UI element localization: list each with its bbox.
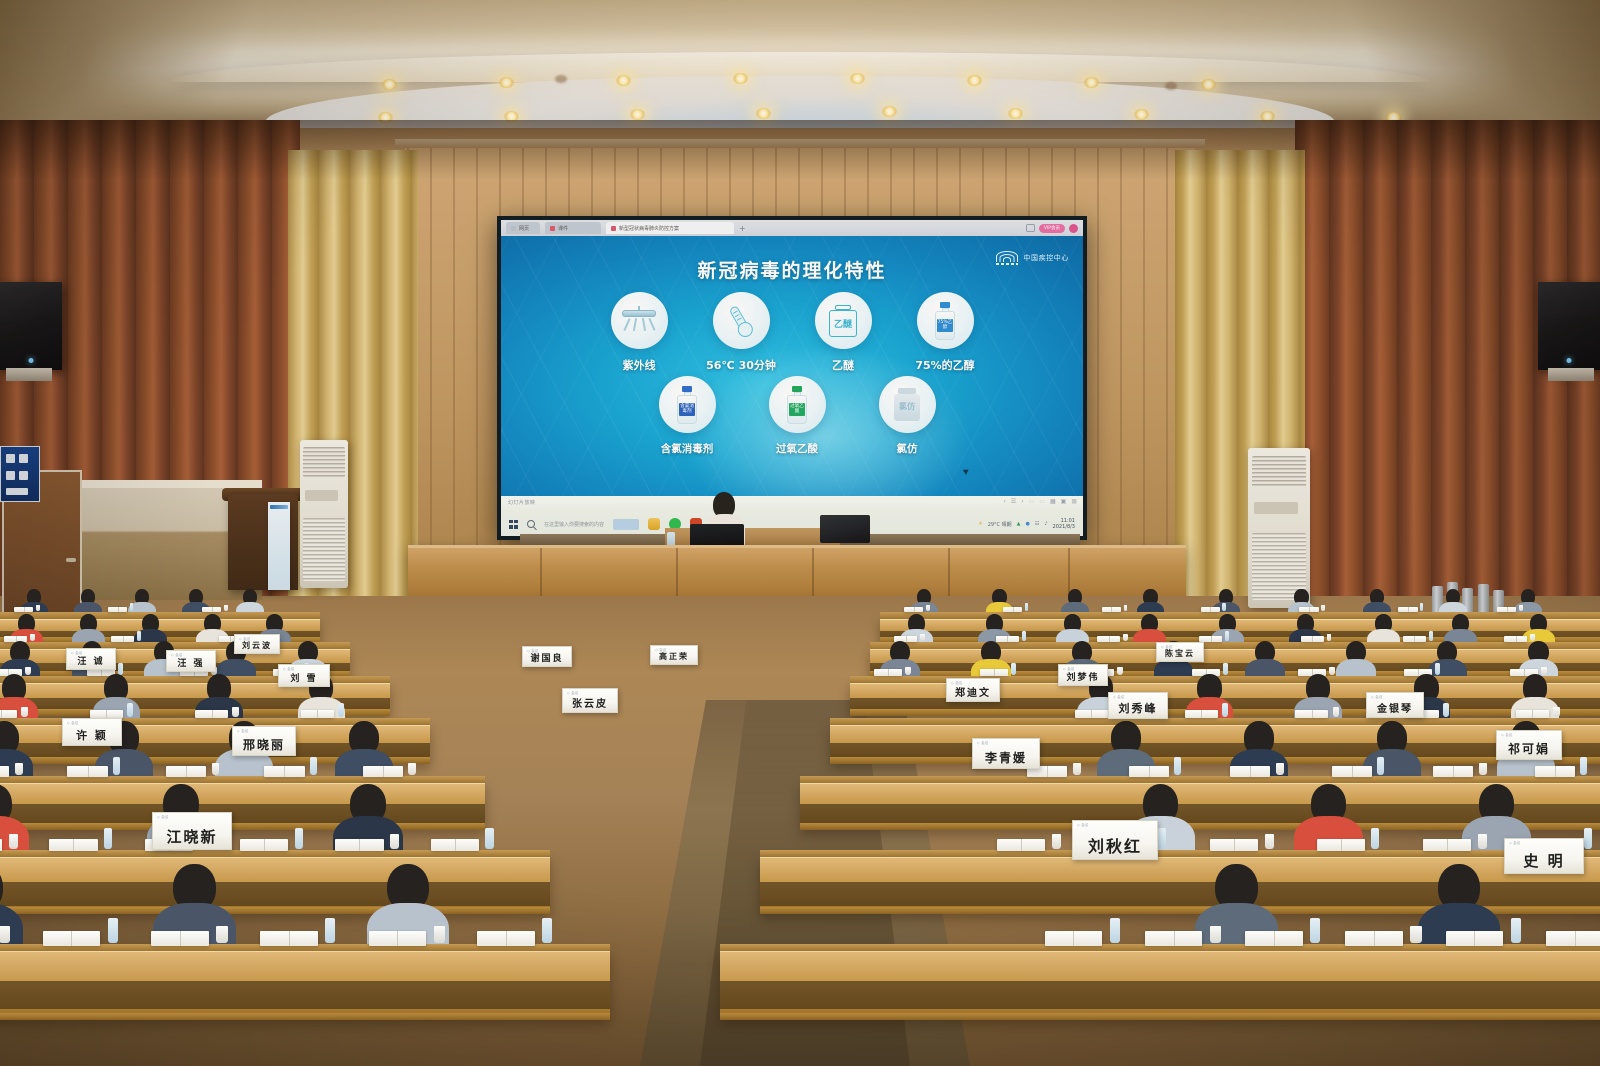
wall-slat — [476, 142, 478, 582]
placard-logo: ◇ 会议 — [977, 741, 989, 746]
desk-edge — [0, 1013, 610, 1020]
placard-logo: ◇ 会议 — [1077, 823, 1089, 828]
paper-cup — [1333, 707, 1339, 717]
name-placard: ◇ 会议陈宝云 — [1156, 642, 1204, 662]
desk-shelf — [0, 804, 485, 823]
ceiling-smoke-detector — [1165, 82, 1177, 90]
cdc-emblem-icon — [995, 250, 1019, 265]
slide-item-label: 75%的乙醇 — [915, 357, 974, 373]
name-placard: ◇ 会议谢国良 — [522, 646, 572, 667]
desk-shelf — [720, 981, 1600, 1009]
slide-item-chloroform: 氯仿 氯仿 — [868, 376, 946, 456]
open-notebook — [43, 931, 101, 946]
open-notebook — [1245, 931, 1303, 946]
paper-cup — [1479, 763, 1487, 775]
paper-cup — [1210, 926, 1221, 944]
open-notebook — [67, 766, 107, 777]
projection-screen: 网页 课件 新型冠状病毒肺炎防控方案 + VIP会员 — [497, 216, 1087, 540]
slide-item-peracetic: 过氧乙酸 过氧乙酸 — [758, 376, 836, 456]
slide-item-chlorine: 含氯消毒剂 含氯消毒剂 — [648, 376, 726, 456]
paper-cup — [920, 634, 925, 641]
placard-name: 金银琴 — [1377, 700, 1413, 715]
water-bottle — [1110, 918, 1120, 943]
water-bottle — [310, 757, 317, 775]
placard-name: 刘 雪 — [290, 671, 317, 684]
placard-name: 张云皮 — [572, 695, 608, 710]
placard-logo: ◇ 会议 — [1063, 667, 1075, 672]
paper-cup — [224, 605, 228, 611]
water-bottle — [108, 918, 118, 943]
slide-item-label: 过氧乙酸 — [776, 441, 818, 456]
open-notebook — [1201, 607, 1220, 612]
browser-tab[interactable]: 网页 — [506, 222, 540, 234]
browser-menu-icon[interactable] — [1026, 224, 1035, 232]
avatar[interactable] — [1069, 224, 1078, 233]
right-wall-speaker — [1538, 282, 1600, 370]
open-notebook — [1317, 839, 1365, 852]
water-bottle — [1310, 918, 1320, 943]
desk-row — [720, 950, 1600, 1020]
open-notebook — [0, 766, 9, 777]
file-explorer-icon[interactable] — [648, 518, 660, 530]
right-speaker-bracket — [1548, 368, 1594, 381]
desk-edge — [0, 823, 485, 830]
speaker-led-icon — [29, 358, 34, 363]
open-notebook — [14, 607, 33, 612]
open-notebook — [1301, 636, 1324, 642]
curtain-top-shadow — [0, 120, 1600, 180]
paper-cup — [216, 926, 227, 944]
placard-logo: ◇ 会议 — [1161, 645, 1173, 650]
paper-cup — [1553, 707, 1559, 717]
ceiling-downlight — [756, 108, 771, 119]
name-placard: ◇ 会议李青媛 — [972, 738, 1040, 769]
water-bottle — [1429, 631, 1433, 641]
name-placard: ◇ 会议郑迪文 — [946, 678, 1000, 702]
paper-cup — [434, 926, 445, 944]
paper-cup — [0, 926, 10, 944]
paper-cup — [9, 834, 18, 849]
desk-surface — [0, 850, 550, 857]
name-placard: ◇ 会议张云皮 — [562, 688, 618, 713]
taskbar-search-placeholder[interactable]: 在这里输入你要搜索的内容 — [544, 521, 604, 528]
placard-name: 祁可娟 — [1508, 740, 1550, 757]
water-bottle — [1222, 703, 1228, 717]
browser-tab-label: 课件 — [558, 225, 568, 232]
jar-label-text: 乙醚 — [828, 317, 858, 330]
placard-logo: ◇ 会议 — [655, 648, 667, 653]
can-label-text: 氯仿 — [892, 401, 922, 412]
name-placard: ◇ 会议高正荣 — [650, 645, 698, 665]
uv-lamp-icon — [611, 292, 668, 349]
desk-edge — [720, 1013, 1600, 1020]
open-notebook — [1145, 931, 1203, 946]
door-handle[interactable] — [66, 558, 76, 562]
peracetic-bottle-icon: 过氧乙酸 — [769, 376, 826, 433]
water-bottle — [485, 828, 493, 849]
water-bottle — [1435, 663, 1440, 675]
clock-time: 11:01 — [1061, 518, 1075, 524]
open-notebook — [0, 710, 17, 719]
ceiling-downlight — [1201, 79, 1216, 90]
open-notebook — [264, 766, 304, 777]
open-notebook — [1003, 607, 1022, 612]
slide-item-label: 紫外线 — [623, 357, 656, 373]
open-notebook — [874, 669, 902, 676]
ceiling-downlight — [882, 106, 897, 117]
open-notebook — [335, 839, 383, 852]
desk-surface — [800, 776, 1600, 783]
open-notebook — [1299, 607, 1318, 612]
stage-monitor — [820, 515, 870, 543]
desk-surface — [760, 850, 1600, 857]
placard-logo: ◇ 会议 — [1113, 695, 1125, 700]
water-bottle — [1584, 828, 1592, 849]
slide-icon-row-2: 含氯消毒剂 含氯消毒剂 过氧乙酸 过氧乙酸 — [501, 376, 1083, 456]
placard-logo: ◇ 会议 — [1509, 841, 1521, 846]
paper-cup — [408, 763, 416, 775]
slide-item-uv: 紫外线 — [600, 292, 678, 373]
cdc-logo: 中国疾控中心 — [995, 250, 1069, 265]
name-placard: ◇ 会议邢晓丽 — [232, 726, 296, 756]
placard-logo: ◇ 会议 — [567, 691, 579, 696]
left-speaker-bracket — [6, 368, 52, 381]
water-bottle — [1371, 828, 1379, 849]
ethanol-bottle-icon: 75%乙醇 — [917, 292, 974, 349]
wall-slat — [1120, 142, 1122, 582]
open-notebook — [151, 931, 209, 946]
water-bottle — [1580, 757, 1587, 775]
ceiling-downlight — [382, 79, 397, 90]
projected-desktop: 网页 课件 新型冠状病毒肺炎防控方案 + VIP会员 — [501, 220, 1083, 536]
water-bottle — [1174, 757, 1181, 775]
placard-logo: ◇ 会议 — [71, 651, 83, 656]
open-notebook — [1546, 931, 1600, 946]
desk-shelf — [0, 882, 550, 905]
open-notebook — [108, 607, 127, 612]
paper-cup — [390, 834, 399, 849]
water-bottle — [1223, 663, 1228, 675]
tab-favicon-icon — [550, 226, 555, 231]
placard-logo: ◇ 会议 — [283, 667, 295, 672]
placard-logo: ◇ 会议 — [1501, 733, 1513, 738]
water-bottle — [1511, 918, 1521, 943]
open-notebook — [301, 710, 334, 719]
water-bottle — [1222, 603, 1225, 611]
open-notebook — [997, 839, 1045, 852]
cdc-logo-text: 中国疾控中心 — [1023, 253, 1069, 263]
name-placard: ◇ 会议刘云波 — [234, 634, 280, 654]
weather-readout[interactable]: 29°C 晴朗 — [988, 521, 1012, 528]
paper-cup — [1410, 926, 1421, 944]
open-notebook — [431, 839, 479, 852]
slide-item-label: 乙醚 — [832, 357, 854, 373]
placard-name: 邢晓丽 — [243, 736, 285, 753]
placard-logo: ◇ 会议 — [239, 637, 251, 642]
water-bottle — [1225, 631, 1229, 641]
open-notebook — [1497, 607, 1516, 612]
open-notebook — [1332, 766, 1372, 777]
slide-item-temperature: 56℃ 30分钟 — [702, 292, 780, 373]
open-notebook — [202, 607, 221, 612]
water-bottle — [1022, 631, 1026, 641]
name-placard: ◇ 会议刘 雪 — [278, 664, 330, 687]
water-bottle — [325, 918, 335, 943]
paper-cup — [21, 707, 27, 717]
open-notebook — [980, 669, 1008, 676]
open-notebook — [1210, 839, 1258, 852]
paper-cup — [15, 763, 23, 775]
placard-name: 江晓新 — [166, 826, 217, 847]
placard-logo: ◇ 会议 — [67, 721, 79, 726]
slide-item-label: 56℃ 30分钟 — [706, 357, 776, 373]
new-tab-button[interactable]: + — [739, 224, 746, 233]
chloroform-can-icon: 氯仿 — [879, 376, 936, 433]
placard-logo: ◇ 会议 — [237, 729, 249, 734]
water-bottle — [130, 603, 133, 611]
paper-cup — [926, 605, 930, 611]
taskbar-clock[interactable]: 11:01 2021/8/3 — [1053, 518, 1075, 531]
app-status-ribbon: 幻灯片放映 ‹☰› ▭▭ ▦▣■ — [501, 496, 1083, 511]
desk-shelf — [0, 981, 610, 1009]
open-notebook — [260, 931, 318, 946]
ceiling-smoke-detector — [555, 75, 567, 83]
speaker-led-icon — [1567, 358, 1572, 363]
open-notebook — [1185, 710, 1218, 719]
open-notebook — [49, 839, 97, 852]
open-notebook — [904, 607, 923, 612]
water-bottle — [104, 828, 112, 849]
open-notebook — [1398, 607, 1417, 612]
paper-cup — [1123, 634, 1128, 641]
water-bottle — [295, 828, 303, 849]
open-notebook — [1516, 710, 1549, 719]
left-floor-ac — [300, 440, 348, 588]
placard-name: 李青媛 — [985, 749, 1027, 766]
slideshow-hint: 幻灯片放映 — [508, 499, 536, 506]
system-tray[interactable]: ☀ 29°C 晴朗 ▲ ● ☷♪ 11:01 2021/8/3 — [978, 518, 1075, 531]
desk-row — [0, 856, 550, 914]
paper-cup — [232, 707, 238, 717]
open-notebook — [1535, 766, 1575, 777]
wall-slat — [1097, 142, 1099, 582]
paper-cup — [212, 763, 220, 775]
water-bottle — [1158, 828, 1166, 849]
browser-tab-label: 新型冠状病毒肺炎防控方案 — [619, 225, 679, 232]
slide-item-label: 含氯消毒剂 — [661, 441, 714, 456]
paper-cup — [1327, 634, 1332, 641]
water-bottle — [338, 703, 344, 717]
open-notebook — [0, 839, 2, 852]
desk-edge — [0, 907, 550, 914]
name-placard: ◇ 会议刘秋红 — [1072, 820, 1158, 860]
open-notebook — [166, 766, 206, 777]
browser-tab-active[interactable]: 新型冠状病毒肺炎防控方案 — [606, 222, 734, 234]
ceiling-downlight — [733, 73, 748, 84]
tab-favicon-icon — [511, 226, 516, 231]
wall-slat — [1143, 142, 1145, 582]
ceiling-downlight — [616, 75, 631, 86]
name-placard: ◇ 会议刘秀峰 — [1108, 692, 1168, 719]
placard-logo: ◇ 会议 — [157, 815, 169, 820]
wall-slat — [430, 142, 432, 582]
paper-cup — [1265, 834, 1274, 849]
name-placard: ◇ 会议江晓新 — [152, 812, 232, 850]
name-placard: ◇ 会议许 颖 — [62, 718, 122, 746]
open-notebook — [1423, 839, 1471, 852]
open-notebook — [1345, 931, 1403, 946]
open-notebook — [1403, 636, 1426, 642]
browser-tab[interactable]: 课件 — [545, 222, 601, 234]
open-notebook — [111, 636, 134, 642]
open-notebook — [1045, 931, 1103, 946]
placard-name: 刘秋红 — [1088, 833, 1142, 857]
open-notebook — [477, 931, 535, 946]
desk-row — [830, 724, 1600, 764]
water-bottle — [1377, 757, 1384, 775]
open-notebook — [1230, 766, 1270, 777]
open-notebook — [369, 931, 427, 946]
name-placard: ◇ 会议汪 诚 — [66, 648, 116, 670]
paper-cup — [1073, 763, 1081, 775]
wall-slat — [453, 142, 455, 582]
name-placard: ◇ 会议祁可娟 — [1496, 730, 1562, 760]
water-bottle — [1011, 663, 1016, 675]
water-bottle — [542, 918, 552, 943]
wall-slat — [1166, 142, 1168, 582]
open-notebook — [240, 839, 288, 852]
slide-item-ether: 乙醚 乙醚 — [804, 292, 882, 373]
left-wall-speaker — [0, 282, 62, 370]
water-bottle — [118, 663, 123, 675]
placard-logo: ◇ 会议 — [951, 681, 963, 686]
exit-sign — [0, 446, 40, 502]
tab-favicon-icon — [611, 226, 616, 231]
browser-toolbar-right: VIP会员 — [1026, 224, 1078, 233]
ceiling-downlight — [1084, 77, 1099, 88]
placard-name: 郑迪文 — [955, 684, 991, 699]
water-bottle — [127, 703, 133, 717]
paper-cup — [905, 667, 910, 675]
paper-cup — [36, 605, 40, 611]
open-notebook — [1433, 766, 1473, 777]
open-notebook — [1129, 766, 1169, 777]
clock-date: 2021/8/3 — [1053, 524, 1075, 530]
water-bottle — [1025, 603, 1028, 611]
placard-name: 史 明 — [1523, 850, 1564, 871]
paper-cup — [1276, 763, 1284, 775]
open-notebook — [1075, 710, 1108, 719]
browser-tab-label: 网页 — [519, 225, 529, 232]
windows-start-icon[interactable] — [509, 520, 518, 529]
desk-row — [0, 782, 485, 830]
paper-cup — [1052, 834, 1061, 849]
right-floor-ac — [1248, 448, 1310, 608]
event-banner — [268, 502, 290, 590]
paper-cup — [1519, 605, 1523, 611]
water-bottle — [113, 757, 120, 775]
name-placard: ◇ 会议金银琴 — [1366, 692, 1424, 718]
open-notebook — [363, 766, 403, 777]
open-notebook — [195, 710, 228, 719]
placard-name: 刘秀峰 — [1119, 700, 1158, 716]
vip-badge[interactable]: VIP会员 — [1039, 224, 1065, 233]
search-icon[interactable] — [527, 520, 535, 528]
placard-logo: ◇ 会议 — [1371, 695, 1383, 700]
ceiling-downlight — [499, 77, 514, 88]
ceiling-downlight — [967, 75, 982, 86]
bottle-label-text: 含氯消毒剂 — [679, 403, 695, 416]
thermometer-icon — [713, 292, 770, 349]
desk-row — [0, 950, 610, 1020]
open-notebook — [1102, 607, 1121, 612]
name-placard: ◇ 会议刘梦伟 — [1058, 664, 1108, 686]
lecture-hall-scene: 网页 课件 新型冠状病毒肺炎防控方案 + VIP会员 — [0, 0, 1600, 1066]
placard-name: 许 颖 — [76, 727, 108, 743]
slide-item-ethanol: 75%乙醇 75%的乙醇 — [906, 292, 984, 373]
open-notebook — [1295, 710, 1328, 719]
name-placard: ◇ 会议汪 强 — [166, 650, 216, 672]
desk-surface — [0, 776, 485, 783]
placard-logo: ◇ 会议 — [527, 649, 539, 654]
slide-item-label: 氯仿 — [897, 441, 918, 456]
presentation-slide: 新冠病毒的理化特性 中国疾控中心 — [501, 236, 1083, 502]
paper-cup — [1478, 834, 1487, 849]
name-placard: ◇ 会议史 明 — [1504, 838, 1584, 874]
water-bottle — [137, 631, 141, 641]
paper-cup — [1321, 605, 1325, 611]
ether-jar-icon: 乙醚 — [815, 292, 872, 349]
desk-surface — [830, 718, 1600, 725]
slide-icon-row-1: 紫外线 56℃ 30分钟 — [501, 292, 1083, 373]
placard-logo: ◇ 会议 — [171, 653, 183, 658]
browser-tab-bar[interactable]: 网页 课件 新型冠状病毒肺炎防控方案 + VIP会员 — [501, 220, 1083, 236]
paper-cup — [1124, 605, 1128, 611]
task-view-icon[interactable] — [613, 519, 639, 530]
chlorine-bottle-icon: 含氯消毒剂 — [659, 376, 716, 433]
bottle-label-text: 过氧乙酸 — [789, 403, 805, 416]
ceiling-downlight — [1008, 108, 1023, 119]
water-bottle — [1420, 603, 1423, 611]
open-notebook — [1446, 931, 1504, 946]
ribbon-controls[interactable]: ‹☰› ▭▭ ▦▣■ — [1003, 498, 1077, 505]
water-bottle — [1443, 703, 1449, 717]
bottle-label-text: 75%乙醇 — [937, 319, 953, 332]
ceiling-downlight — [850, 73, 865, 84]
